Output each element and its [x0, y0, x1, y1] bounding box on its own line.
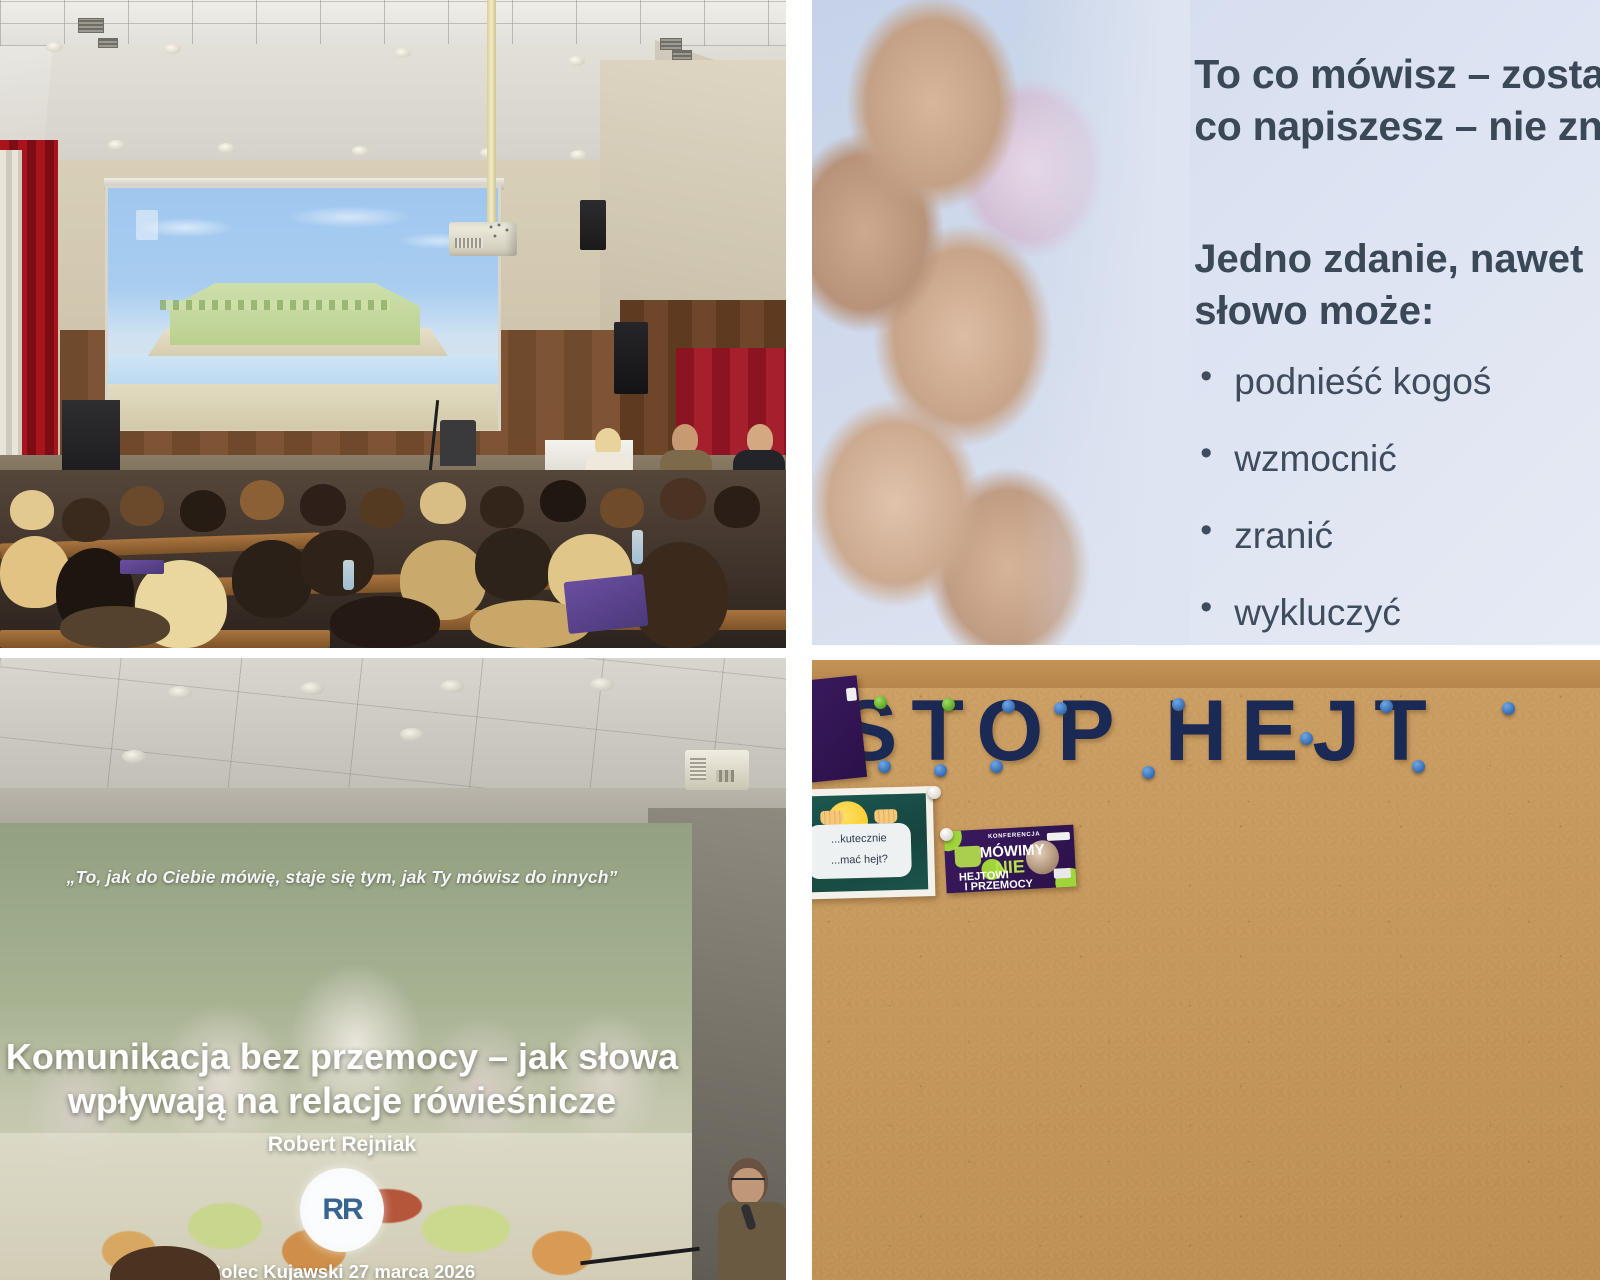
pushpin-icon: [1172, 698, 1185, 711]
projector-vents: [690, 758, 706, 780]
audience-head: [360, 488, 404, 528]
audience-head: [600, 488, 644, 528]
room-photo: „To, jak do Ciebie mówię, staje się tym,…: [0, 658, 786, 1280]
pushpin-icon: [1502, 702, 1515, 715]
audience-head: [10, 490, 54, 530]
downlight-icon: [122, 750, 146, 763]
pushpin-icon: [1142, 766, 1155, 779]
audience-head: [660, 478, 706, 520]
ceiling-vent-icon: [672, 50, 692, 60]
pushpin-icon: [1380, 700, 1393, 713]
pushpin-icon: [1002, 700, 1015, 713]
downlight-icon: [394, 48, 411, 58]
loudspeaker: [580, 200, 606, 250]
slide-sub-line1: Jedno zdanie, nawet: [1194, 233, 1600, 285]
ceiling-vent-icon: [660, 38, 682, 50]
slide-heading-line1: To co mówisz – zostaje,: [1194, 48, 1600, 100]
slide-author: Robert Rejniak: [0, 1133, 692, 1157]
projector-cables: [487, 222, 513, 242]
card-bubble: ...kutecznie ...mać hejt?: [812, 822, 912, 878]
poster-kicker: KONFERENCJA: [988, 831, 1041, 840]
projector-vents: [455, 238, 483, 248]
poster-logo: [846, 688, 858, 702]
slide-quote: „To, jak do Ciebie mówię, staje się tym,…: [0, 867, 692, 888]
audience-head: [300, 484, 346, 526]
slide-title: Komunikacja bez przemocy – jak słowa wpł…: [0, 1035, 692, 1123]
audience-head: [60, 606, 170, 648]
audience-head: [632, 542, 728, 648]
pushpin-icon: [874, 696, 887, 709]
board-card: ...kutecznie ...mać hejt?: [812, 786, 935, 900]
slide-bullet-item: podnieść kogoś: [1194, 363, 1600, 400]
hand-icon: [820, 811, 843, 825]
slide-title-line1: Komunikacja bez przemocy – jak słowa: [0, 1035, 686, 1079]
card-art: ...kutecznie ...mać hejt?: [812, 793, 928, 893]
audience-head: [714, 486, 760, 528]
hand-icon: [955, 846, 982, 868]
slide-bullet-item: wykluczyć: [1194, 594, 1600, 631]
logo-monogram: RR: [322, 1193, 361, 1227]
audience-head: [420, 482, 466, 524]
panel-cork-board: STOP HEJT: [812, 660, 1600, 1280]
pushpin-icon: [1054, 702, 1067, 715]
panel-slide-title: „To, jak do Ciebie mówię, staje się tym,…: [0, 658, 786, 1280]
conference-booklet: [120, 560, 164, 574]
slide-title-line2: wpływają na relacje rówieśnicze: [0, 1079, 686, 1123]
projector-mount: [716, 770, 734, 782]
downlight-icon: [440, 680, 464, 693]
pushpin-icon: [1412, 760, 1425, 773]
pushpin-icon: [942, 698, 955, 711]
conference-poster: KONFERENCJA MÓWIMY NIE HEJTOWI I PRZEMOC…: [943, 825, 1076, 894]
board-headline: STOP HEJT: [840, 682, 1600, 772]
projection-screen: „To, jak do Ciebie mówię, staje się tym,…: [0, 823, 692, 1280]
audience-head: [180, 490, 226, 532]
chair: [440, 420, 476, 466]
pushpin-icon: [934, 764, 947, 777]
slide-bullet-item: wzmocnić: [1194, 440, 1600, 477]
downlight-icon: [352, 146, 369, 156]
pushpin-icon: [990, 760, 1003, 773]
downlight-icon: [168, 686, 192, 699]
downlight-icon: [400, 728, 424, 741]
audience-head: [330, 596, 440, 648]
audience-head: [240, 480, 284, 520]
ceiling-vent-icon: [78, 18, 104, 33]
loudspeaker: [614, 322, 648, 394]
pushpin-icon: [878, 760, 891, 773]
downlight-icon: [164, 44, 181, 54]
water-bottle: [632, 530, 643, 564]
glasses-icon: [731, 1178, 765, 1186]
pushpin-icon: [928, 786, 941, 799]
hand-icon: [874, 809, 897, 823]
photo-collage: To co mówisz – zostaje, co napiszesz – n…: [0, 0, 1600, 1280]
audience-head: [300, 530, 374, 596]
ceiling-vent-icon: [98, 38, 118, 48]
projection-screen: [108, 188, 498, 428]
audience-head: [540, 480, 586, 522]
water-bottle: [343, 560, 354, 590]
poster-line4: I PRZEMOCY: [964, 878, 1033, 894]
slide-building: [170, 283, 420, 345]
downlight-icon: [300, 682, 324, 695]
slide-food: [188, 1203, 262, 1249]
downlight-icon: [218, 143, 235, 153]
slide-building-windows: [160, 300, 390, 310]
slide-bullet-list: podnieść kogoś wzmocnić zranić wykluczyć: [1194, 363, 1600, 631]
panel-slide-words: To co mówisz – zostaje, co napiszesz – n…: [812, 0, 1600, 645]
cork-board-photo: STOP HEJT: [812, 660, 1600, 1280]
pushpin-icon: [940, 828, 953, 841]
conference-booklet: [564, 574, 649, 634]
ceiling-tiles: [0, 658, 786, 808]
card-line1: ...kutecznie: [831, 833, 887, 848]
downlight-icon: [568, 56, 585, 66]
downlight-icon: [46, 42, 63, 52]
downlight-icon: [590, 678, 614, 691]
slide-words-photo: To co mówisz – zostaje, co napiszesz – n…: [812, 0, 1600, 645]
poster-logo: [1054, 868, 1071, 879]
panel-auditorium: [0, 0, 786, 648]
auditorium-photo: [0, 0, 786, 648]
downlight-icon: [570, 150, 587, 160]
audience-head: [120, 486, 164, 526]
slide-sub-line2: słowo może:: [1194, 285, 1600, 337]
slide-words-textblock: To co mówisz – zostaje, co napiszesz – n…: [1186, 0, 1600, 645]
audience-head: [232, 540, 312, 618]
audience-head: [480, 486, 524, 528]
poster-logo: [1046, 832, 1070, 841]
speaker-face: [732, 1168, 764, 1204]
speaker-person: [718, 1158, 786, 1280]
pushpin-icon: [1300, 732, 1313, 745]
audience-head: [62, 498, 110, 542]
slide-logo: [136, 210, 158, 240]
card-line2: ...mać hejt?: [831, 853, 888, 868]
slide-food: [422, 1205, 510, 1253]
slide-photo-children-circle: [812, 0, 1190, 645]
downlight-icon: [108, 140, 125, 150]
slide-bullet-item: zranić: [1194, 517, 1600, 554]
projector-mount-pole: [487, 0, 496, 232]
audience-head: [475, 528, 553, 600]
speaker-logo: RR: [300, 1168, 384, 1252]
slide-heading-line2: co napiszesz – nie zniknie: [1194, 100, 1600, 152]
